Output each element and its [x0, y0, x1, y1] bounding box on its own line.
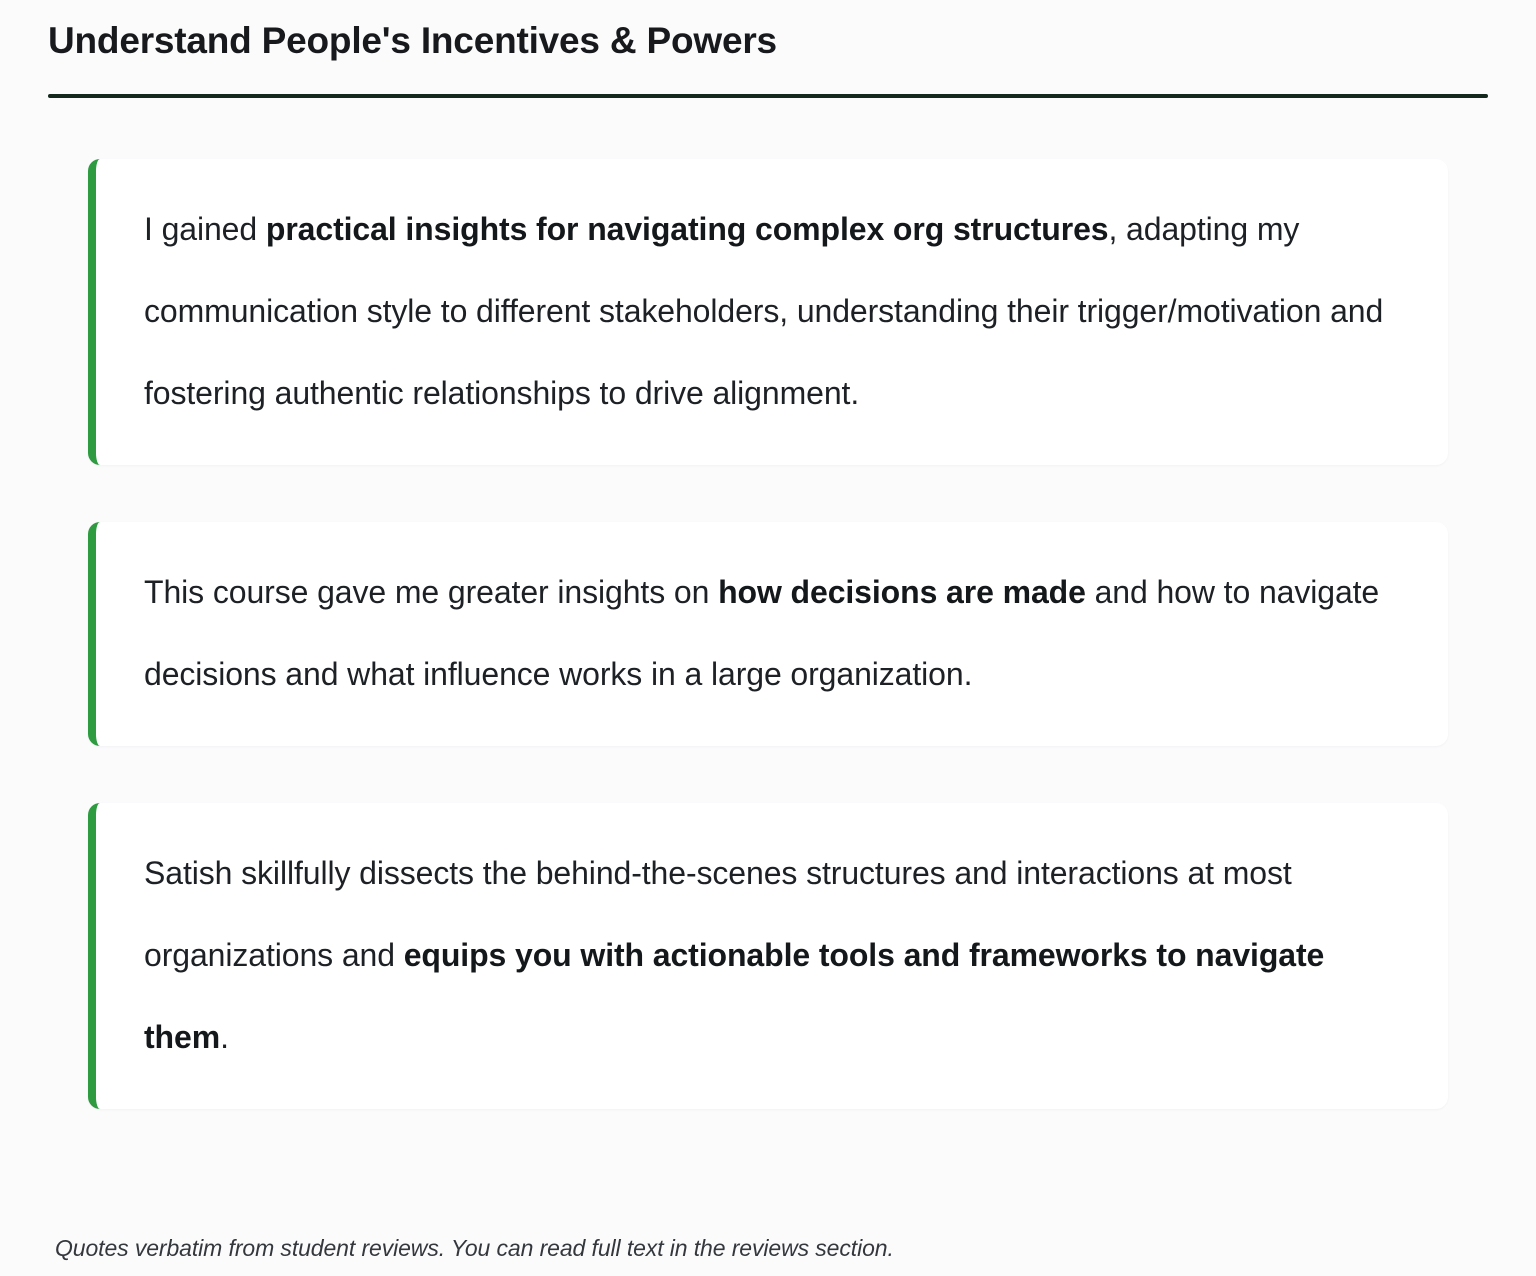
page-root: Understand People's Incentives & Powers … [0, 0, 1536, 1276]
footnote-text: Quotes verbatim from student reviews. Yo… [55, 1235, 894, 1262]
page-header: Understand People's Incentives & Powers [0, 0, 1536, 98]
page-title: Understand People's Incentives & Powers [48, 18, 1488, 64]
quote-emphasis: how decisions are made [718, 574, 1086, 610]
quote-text: I gained practical insights for navigati… [144, 189, 1404, 435]
quote-span: . [220, 1019, 229, 1055]
quote-text: This course gave me greater insights on … [144, 552, 1404, 716]
quote-text: Satish skillfully dissects the behind-th… [144, 833, 1404, 1079]
quote-span: This course gave me greater insights on [144, 574, 718, 610]
quote-card: I gained practical insights for navigati… [88, 159, 1448, 465]
quote-card: This course gave me greater insights on … [88, 522, 1448, 746]
quote-card: Satish skillfully dissects the behind-th… [88, 803, 1448, 1109]
quote-span: I gained [144, 211, 266, 247]
quote-emphasis: practical insights for navigating comple… [266, 211, 1109, 247]
quote-list: I gained practical insights for navigati… [0, 98, 1536, 1124]
